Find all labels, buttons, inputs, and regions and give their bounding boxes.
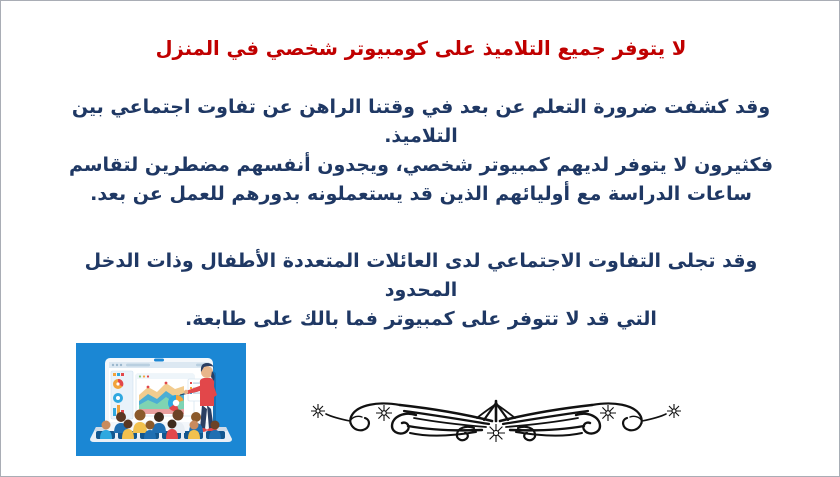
page-title: لا يتوفر جميع التلاميذ على كومبيوتر شخصي… [59, 35, 783, 63]
decorative-flourish-graphic [296, 387, 696, 449]
paragraph-1-line-4: ساعات الدراسة مع أوليائهم الذين قد يستعم… [59, 180, 783, 209]
paragraph-1-line-2: التلاميذ. [59, 122, 783, 151]
online-learning-illustration [76, 343, 246, 456]
paragraph-2-line-1: وقد تجلى التفاوت الاجتماعي لدى العائلات … [59, 247, 783, 305]
document-content: لا يتوفر جميع التلاميذ على كومبيوتر شخصي… [1, 1, 840, 333]
paragraph-1: وقد كشفت ضرورة التعلم عن بعد في وقتنا ال… [59, 93, 783, 209]
online-learning-illustration-graphic [76, 343, 246, 456]
paragraph-2-line-2: التي قد لا تتوفر على كمبيوتر فما بالك عل… [59, 305, 783, 334]
paragraph-1-line-1: وقد كشفت ضرورة التعلم عن بعد في وقتنا ال… [59, 93, 783, 122]
paragraph-2: وقد تجلى التفاوت الاجتماعي لدى العائلات … [59, 247, 783, 334]
paragraph-spacer [59, 209, 783, 247]
paragraph-1-line-3: فكثيرون لا يتوفر لديهم كمبيوتر شخصي، ويج… [59, 151, 783, 180]
decorative-flourish-divider [296, 387, 696, 449]
document-page: لا يتوفر جميع التلاميذ على كومبيوتر شخصي… [0, 0, 840, 477]
